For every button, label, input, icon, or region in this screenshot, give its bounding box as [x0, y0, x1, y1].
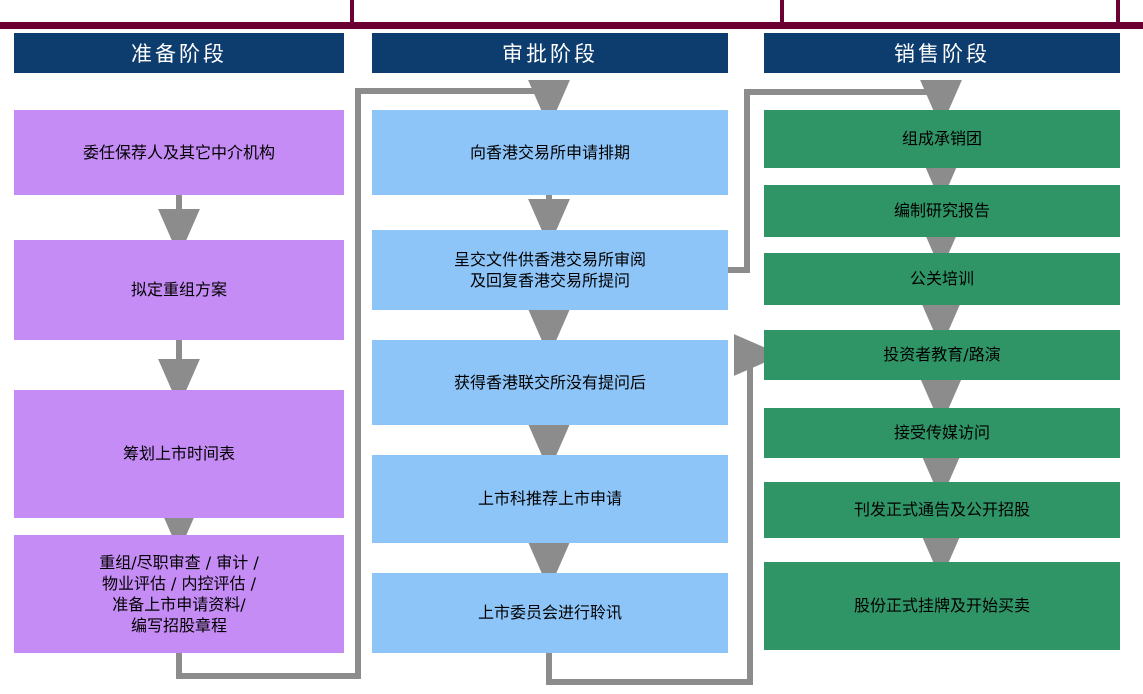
node-label: 上市科推荐上市申请 — [478, 488, 622, 509]
flowchart-canvas: 准备阶段 委任保荐人及其它中介机构 拟定重组方案 筹划上市时间表 重组/尽职审查… — [0, 0, 1143, 694]
node-sale-5[interactable]: 接受传媒访问 — [764, 408, 1120, 458]
node-prep-3[interactable]: 筹划上市时间表 — [14, 390, 344, 518]
node-appr-3[interactable]: 获得香港联交所没有提问后 — [372, 340, 728, 425]
column-approval: 审批阶段 — [372, 33, 728, 73]
node-appr-5[interactable]: 上市委员会进行聆讯 — [372, 573, 728, 653]
column-header-preparation: 准备阶段 — [14, 33, 344, 73]
node-label: 投资者教育/路演 — [883, 344, 1000, 365]
node-label: 接受传媒访问 — [894, 422, 990, 443]
node-sale-7[interactable]: 股份正式挂牌及开始买卖 — [764, 562, 1120, 650]
node-prep-1[interactable]: 委任保荐人及其它中介机构 — [14, 110, 344, 195]
top-table-divider-3 — [1116, 0, 1120, 22]
column-sales: 销售阶段 — [764, 33, 1120, 73]
top-table-divider-1 — [350, 0, 354, 22]
node-sale-3[interactable]: 公关培训 — [764, 253, 1120, 305]
node-label: 刊发正式通告及公开招股 — [854, 499, 1030, 520]
node-sale-4[interactable]: 投资者教育/路演 — [764, 330, 1120, 380]
node-label: 向香港交易所申请排期 — [470, 142, 630, 163]
top-table-strip — [0, 0, 1143, 22]
node-label: 筹划上市时间表 — [123, 443, 235, 464]
node-label: 编制研究报告 — [894, 200, 990, 221]
node-label: 上市委员会进行聆讯 — [478, 602, 622, 623]
node-label: 公关培训 — [910, 268, 974, 289]
node-appr-1[interactable]: 向香港交易所申请排期 — [372, 110, 728, 195]
node-appr-4[interactable]: 上市科推荐上市申请 — [372, 455, 728, 543]
column-header-approval: 审批阶段 — [372, 33, 728, 73]
node-prep-4[interactable]: 重组/尽职审查 / 审计 / 物业评估 / 内控评估 / 准备上市申请资料/ 编… — [14, 535, 344, 653]
node-prep-2[interactable]: 拟定重组方案 — [14, 240, 344, 340]
node-sale-2[interactable]: 编制研究报告 — [764, 185, 1120, 237]
node-sale-6[interactable]: 刊发正式通告及公开招股 — [764, 482, 1120, 538]
node-sale-1[interactable]: 组成承销团 — [764, 110, 1120, 168]
node-label: 股份正式挂牌及开始买卖 — [854, 595, 1030, 616]
top-table-rule — [0, 22, 1143, 29]
node-label: 组成承销团 — [902, 128, 982, 149]
node-label: 呈交文件供香港交易所审阅 及回复香港交易所提问 — [454, 249, 646, 291]
column-header-sales: 销售阶段 — [764, 33, 1120, 73]
node-label: 委任保荐人及其它中介机构 — [83, 142, 275, 163]
node-appr-2[interactable]: 呈交文件供香港交易所审阅 及回复香港交易所提问 — [372, 230, 728, 310]
node-label: 重组/尽职审查 / 审计 / 物业评估 / 内控评估 / 准备上市申请资料/ 编… — [99, 552, 258, 636]
node-label: 获得香港联交所没有提问后 — [454, 372, 646, 393]
column-preparation: 准备阶段 — [14, 33, 344, 73]
top-table-divider-2 — [780, 0, 784, 22]
node-label: 拟定重组方案 — [131, 279, 227, 300]
